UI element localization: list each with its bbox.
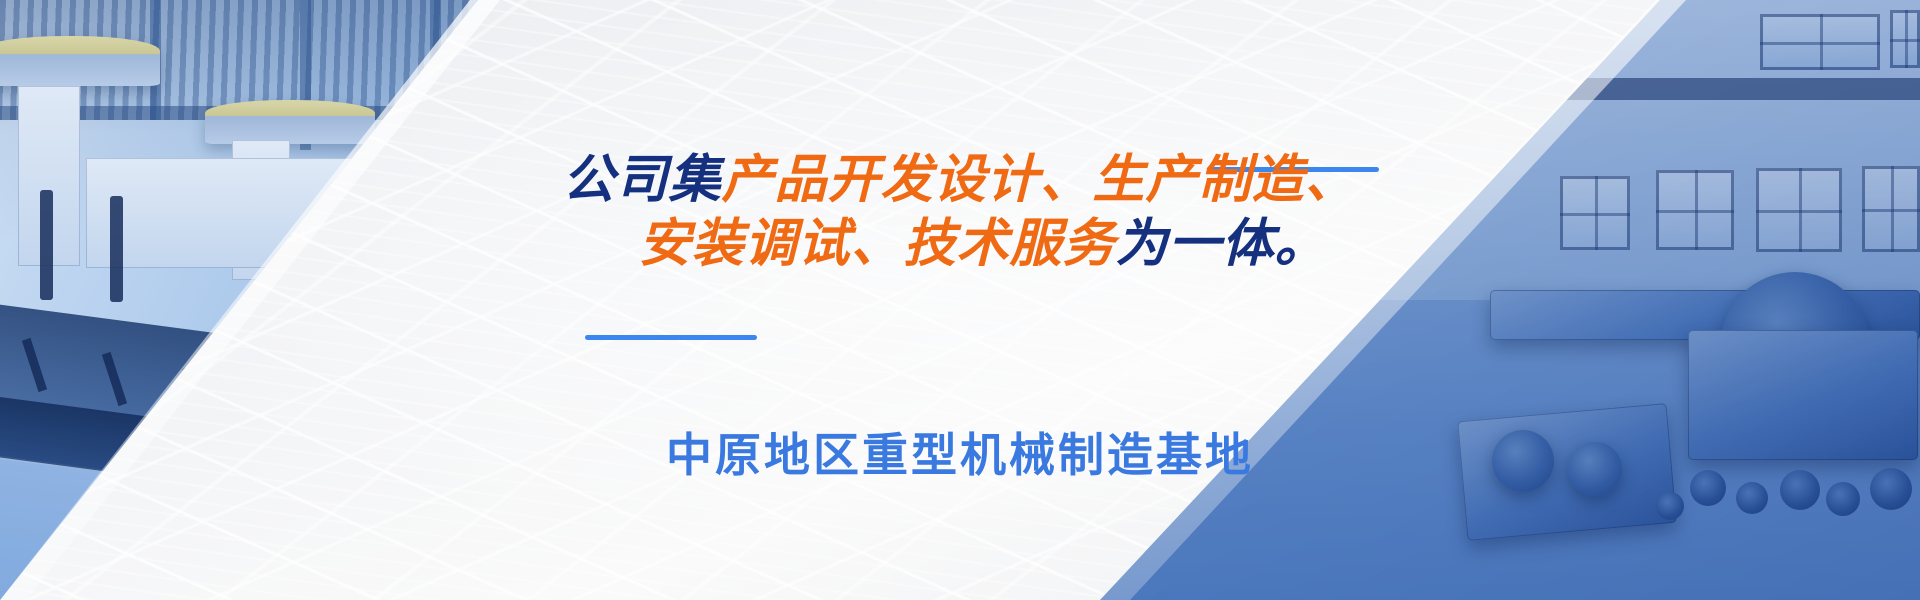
headline-line-2-orange: 安装调试、技术服务: [638, 215, 1115, 273]
headline-line-1-orange: 产品开发设计、生产制造、: [722, 151, 1358, 209]
headline-line-1: 公司集产品开发设计、生产制造、: [0, 148, 1920, 212]
subtitle: 中原地区重型机械制造基地: [0, 424, 1920, 486]
banner-content: 公司集产品开发设计、生产制造、 安装调试、技术服务为一体。 中原地区重型机械制造…: [0, 0, 1920, 600]
headline-line-1-navy: 公司集: [562, 151, 721, 209]
headline: 公司集产品开发设计、生产制造、 安装调试、技术服务为一体。: [0, 148, 1920, 276]
hero-banner: 公司集产品开发设计、生产制造、 安装调试、技术服务为一体。 中原地区重型机械制造…: [0, 0, 1920, 600]
headline-line-2-navy: 为一体。: [1116, 215, 1328, 273]
accent-rule-bottom: [585, 335, 757, 340]
headline-line-2: 安装调试、技术服务为一体。: [0, 212, 1920, 276]
